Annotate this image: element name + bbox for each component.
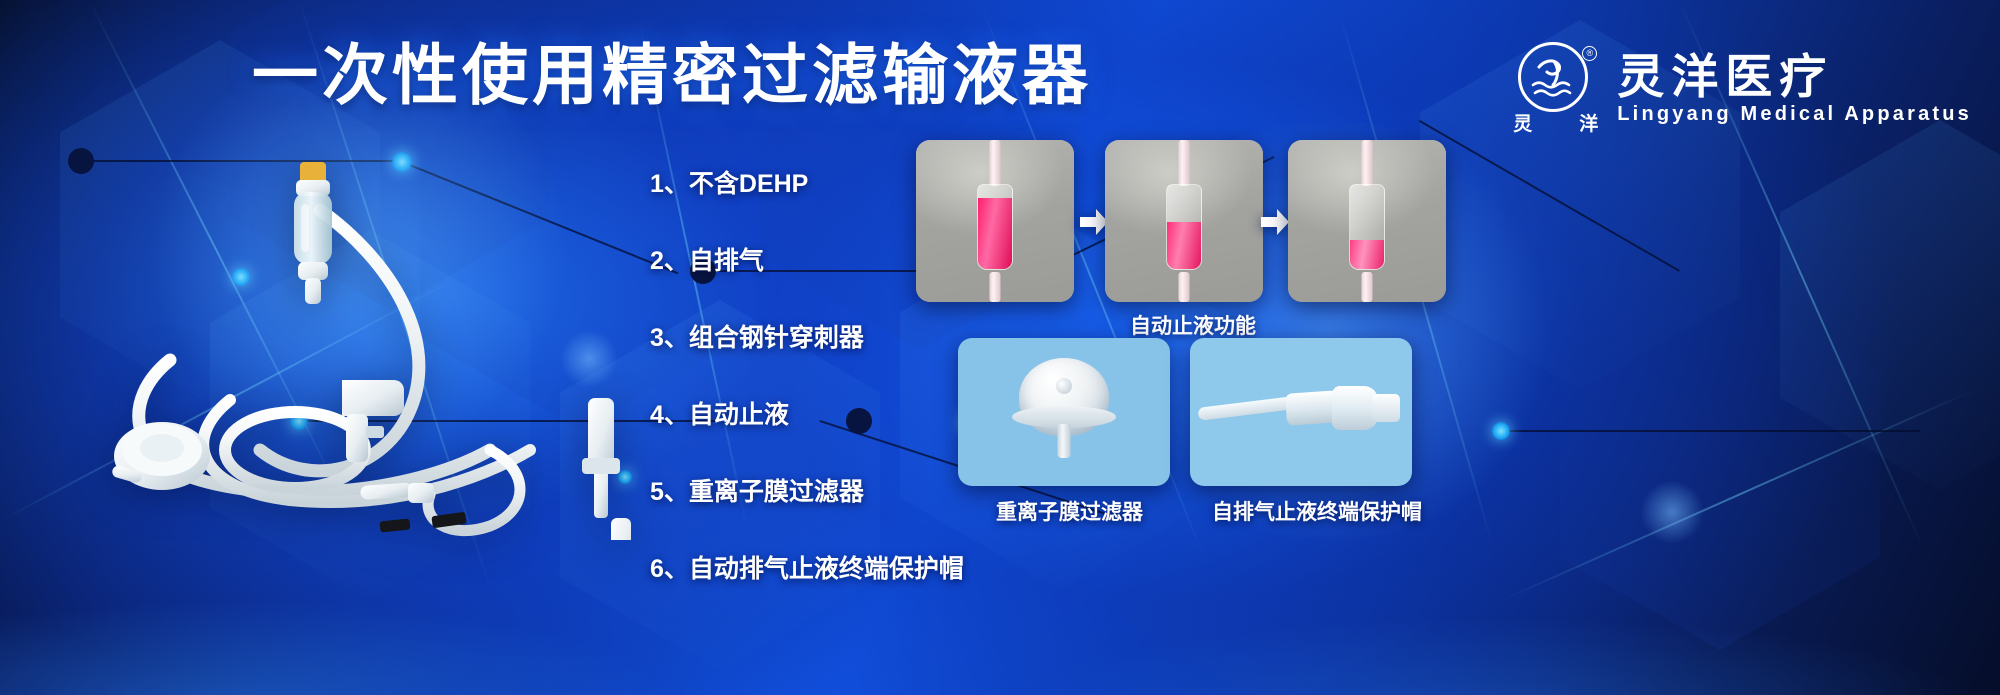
logo-wordmark: 灵洋医疗 Lingyang Medical Apparatus: [1617, 52, 1972, 126]
sequence-photo-2: [1105, 140, 1263, 302]
light-beam: [1500, 388, 1976, 601]
logo-emblem-icon: ® 灵 洋: [1513, 42, 1599, 136]
chamber-fluid: [1350, 240, 1384, 269]
network-node: [1492, 422, 1510, 440]
filter-outlet: [1058, 424, 1071, 458]
network-node: [1640, 480, 1704, 544]
tube-segment: [990, 272, 1001, 302]
connector-hub: [1285, 390, 1339, 426]
filter-port: [1056, 378, 1072, 394]
feature-item-5: 5、重离子膜过滤器: [650, 480, 970, 505]
logo-char-ling: 灵: [1513, 109, 1533, 136]
product-caption-1: 重离子膜过滤器: [996, 496, 1143, 526]
chamber-fluid: [1167, 222, 1201, 269]
connector-tip: [1372, 394, 1400, 422]
logo-ring-icon: [1518, 42, 1588, 112]
connector-tube: [1198, 396, 1295, 421]
tube-segment: [1179, 272, 1190, 302]
sequence-caption: 自动止液功能: [1130, 310, 1256, 340]
drip-chamber: [1349, 184, 1385, 270]
feature-item-4: 4、自动止液: [650, 403, 970, 428]
hex-shape: [1560, 280, 1880, 650]
brand-logo: ® 灵 洋 灵洋医疗 Lingyang Medical Apparatus: [1513, 42, 1972, 136]
feature-item-3: 3、组合钢针穿刺器: [650, 326, 970, 351]
company-name-cn: 灵洋医疗: [1617, 52, 1972, 101]
sequence-photo-1: [916, 140, 1074, 302]
tube-segment: [1362, 140, 1373, 186]
tube-segment: [1362, 272, 1373, 302]
chamber-fluid: [978, 198, 1012, 269]
heavy-ion-membrane-filter-photo: [958, 338, 1170, 486]
tube-segment: [1179, 140, 1190, 186]
drip-chamber: [1166, 184, 1202, 270]
drip-chamber: [977, 184, 1013, 270]
network-line: [1500, 430, 1920, 432]
logo-chinese-chars: 灵 洋: [1513, 109, 1599, 136]
hex-shape: [1780, 120, 2000, 490]
bottom-wave: [0, 525, 2000, 695]
feature-item-6: 6、自动排气止液终端保护帽: [650, 557, 970, 582]
self-venting-terminal-cap-photo: [1190, 338, 1412, 486]
right-arrow-icon: [1258, 205, 1292, 239]
sequence-photo-3: [1288, 140, 1446, 302]
infusion-set-product-photo: [60, 150, 660, 540]
page-title: 一次性使用精密过滤输液器: [252, 42, 1092, 108]
product-banner: 一次性使用精密过滤输液器 ® 灵 洋 灵洋医疗 Lingyang Medical…: [0, 0, 2000, 695]
registered-trademark-icon: ®: [1582, 46, 1597, 61]
network-line: [1419, 120, 1680, 272]
tube-segment: [990, 140, 1001, 186]
company-name-en: Lingyang Medical Apparatus: [1617, 103, 1972, 126]
product-caption-2: 自排气止液终端保护帽: [1212, 496, 1422, 526]
logo-char-yang: 洋: [1579, 109, 1599, 136]
